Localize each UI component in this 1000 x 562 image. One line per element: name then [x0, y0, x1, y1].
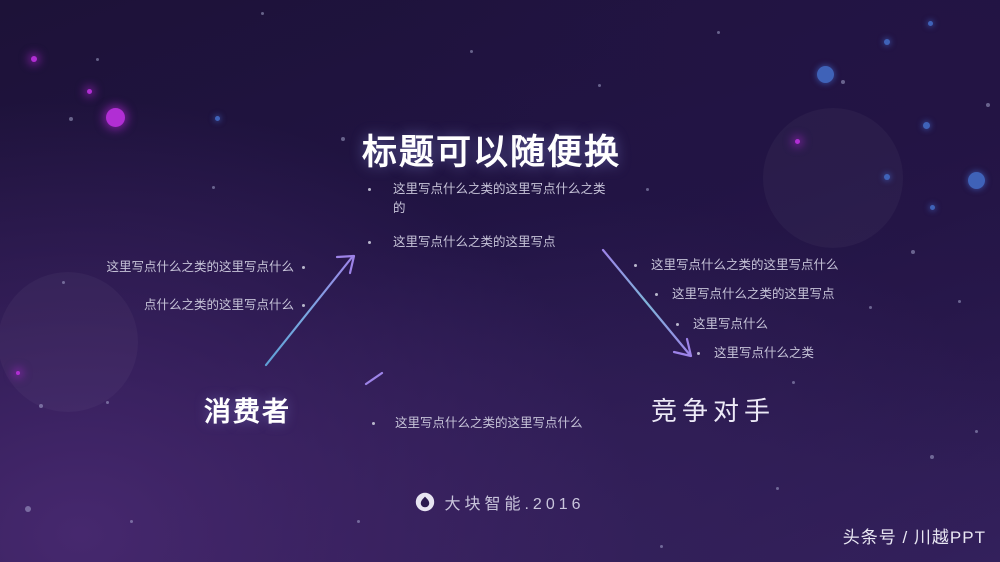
slide-title: 标题可以随便换 — [362, 124, 621, 175]
list-item: 这里写点什么 — [676, 315, 934, 334]
droplet-logo-icon — [415, 492, 435, 512]
list-item: 点什么之类的这里写点什么 — [100, 296, 305, 315]
node-label-consumer: 消费者 — [204, 390, 291, 429]
list-item-label: 这里写点什么之类的这里写点什么 — [651, 256, 839, 275]
footer-brand-label: 大块智能.2016 — [444, 490, 584, 514]
bullet-dot-icon — [697, 352, 700, 355]
list-item: 这里写点什么之类的这里写点 — [368, 233, 606, 252]
bottom-bullet-list: 这里写点什么之类的这里写点什么 — [372, 414, 632, 442]
bullet-dot-icon — [676, 323, 679, 326]
list-item: 这里写点什么之类的这里写点 — [655, 285, 934, 304]
list-item-label: 这里写点什么之类的这里写点 — [672, 285, 835, 304]
bullet-dot-icon — [634, 264, 637, 267]
left-bullet-list: 这里写点什么之类的这里写点什么 点什么之类的这里写点什么 — [100, 258, 305, 335]
bullet-dot-icon — [372, 422, 375, 425]
presentation-slide: 标题可以随便换 这里写点什么之类的这里写点什么之类的 这里写点什么之类的这里写点… — [0, 0, 1000, 562]
list-item: 这里写点什么之类的这里写点什么 — [372, 414, 632, 433]
list-item-label: 这里写点什么 — [693, 315, 768, 334]
top-bullet-list: 这里写点什么之类的这里写点什么之类的 这里写点什么之类的这里写点 — [368, 180, 606, 266]
node-label-competitor: 竞争对手 — [651, 391, 775, 428]
list-item: 这里写点什么之类的这里写点什么 — [634, 256, 934, 275]
list-item-label: 这里写点什么之类的这里写点什么之类的 — [393, 180, 606, 219]
list-item: 这里写点什么之类的这里写点什么之类的 — [368, 180, 606, 219]
bullet-dot-icon — [302, 304, 305, 307]
list-item-label: 这里写点什么之类的这里写点什么 — [395, 414, 583, 433]
watermark-label: 头条号 / 川越PPT — [843, 523, 986, 548]
bullet-dot-icon — [655, 293, 658, 296]
bullet-dot-icon — [302, 266, 305, 269]
list-item-label: 这里写点什么之类 — [714, 344, 814, 363]
arrow-competitor-to-consumer — [366, 373, 604, 384]
list-item: 这里写点什么之类的这里写点什么 — [100, 258, 305, 277]
slide-footer: 大块智能.2016 — [0, 490, 1000, 514]
bullet-dot-icon — [368, 241, 371, 244]
bullet-dot-icon — [368, 188, 371, 191]
list-item: 这里写点什么之类 — [697, 344, 934, 363]
list-item-label: 这里写点什么之类的这里写点什么 — [106, 258, 294, 277]
right-bullet-list: 这里写点什么之类的这里写点什么 这里写点什么之类的这里写点 这里写点什么 这里写… — [634, 256, 934, 374]
list-item-label: 点什么之类的这里写点什么 — [144, 296, 294, 315]
list-item-label: 这里写点什么之类的这里写点 — [393, 233, 556, 252]
